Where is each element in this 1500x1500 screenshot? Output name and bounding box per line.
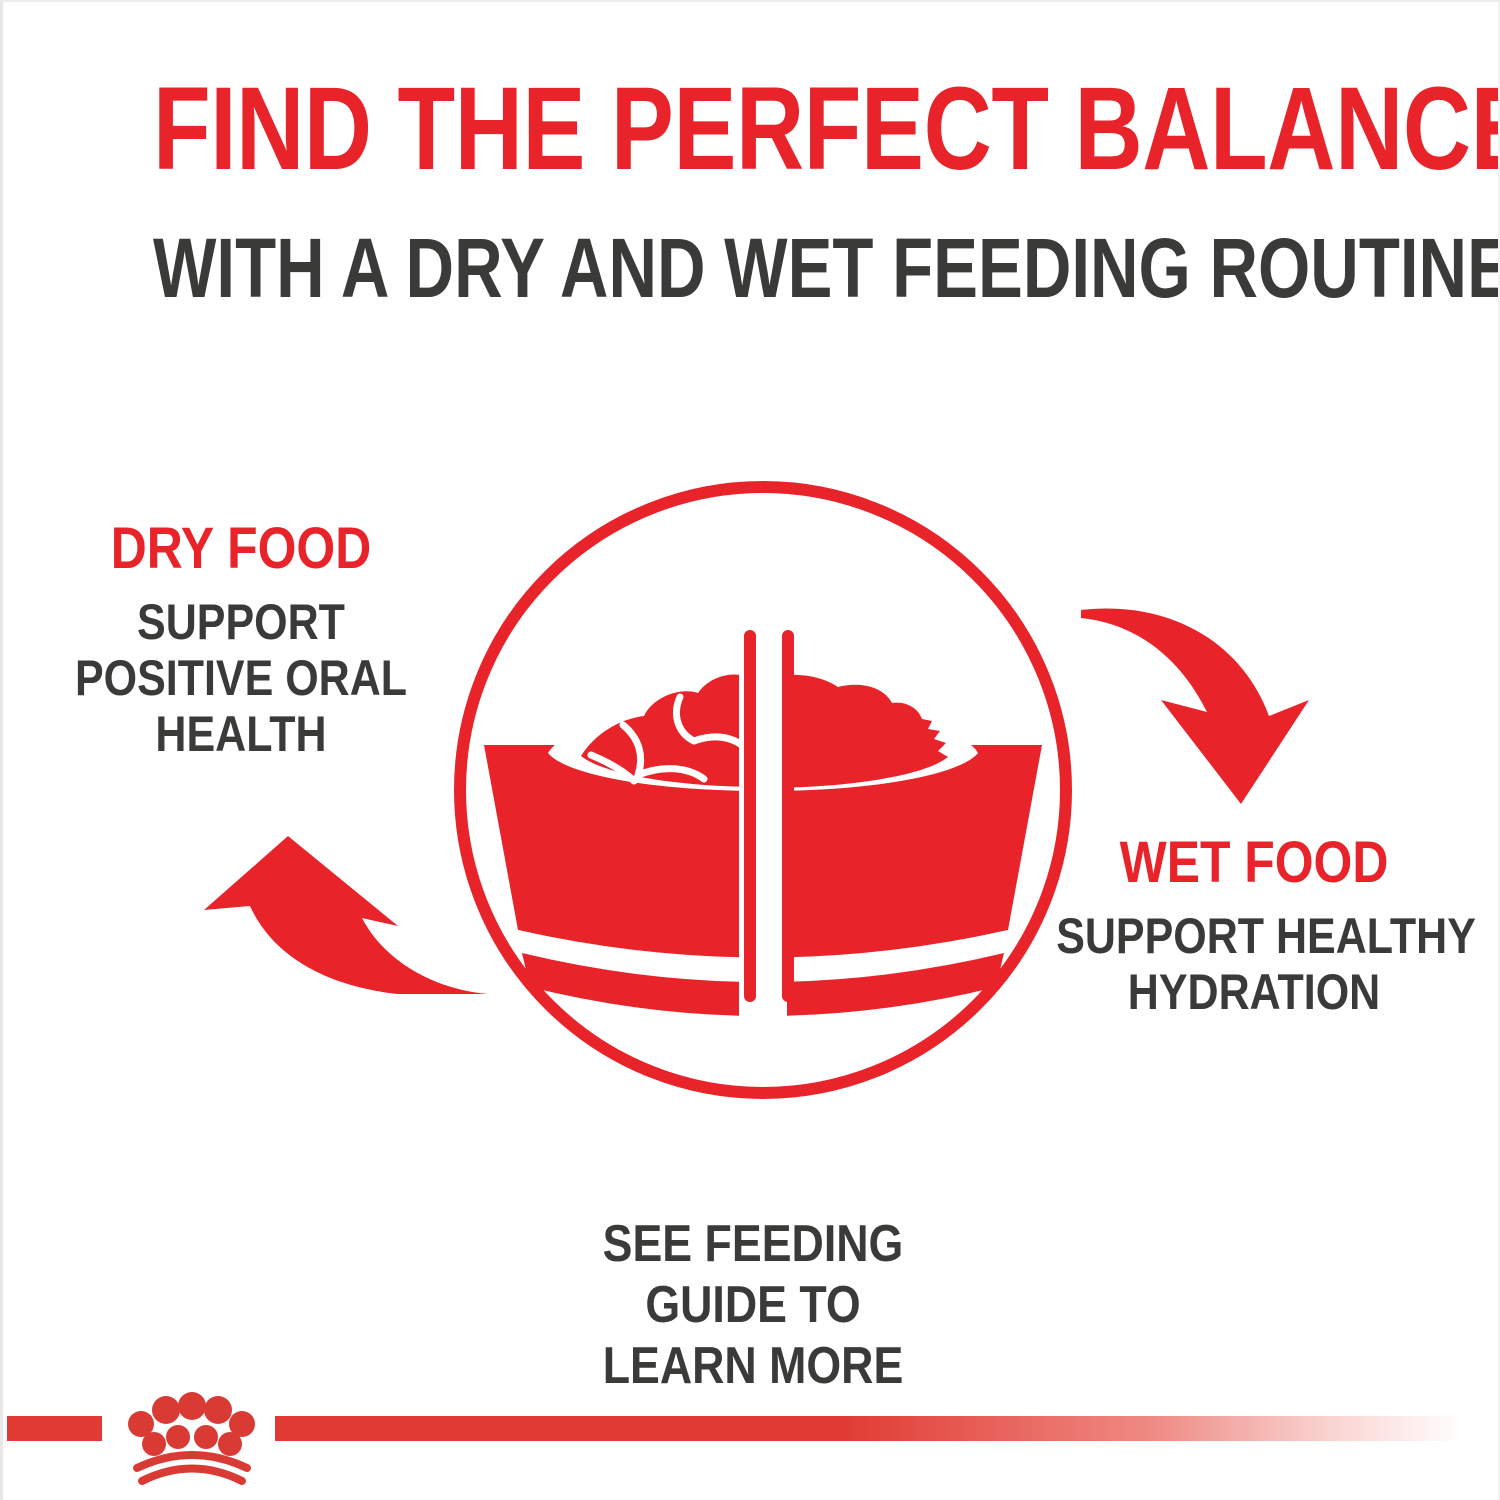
infographic-page: FIND THE PERFECT BALANCE WITH A DRY AND … [0,0,1500,1500]
page-subtitle: WITH A DRY AND WET FEEDING ROUTINE [153,226,1353,310]
split-bowl-circle-icon [448,475,1078,1105]
feeding-guide-caption: SEE FEEDING GUIDE TO LEARN MORE [3,1214,1500,1396]
wet-food-block: WET FOOD SUPPORT HEALTHY HYDRATION [1024,834,1484,1020]
heading-group: FIND THE PERFECT BALANCE WITH A DRY AND … [3,70,1500,310]
dry-food-line: HEALTH [60,706,421,762]
wet-food-line: HYDRATION [1056,964,1452,1020]
divider-line-right [782,630,794,1002]
curved-arrow-up-left-icon [188,814,508,994]
footer-bar-right [275,1416,1500,1441]
curved-arrow-down-right-icon [1081,588,1381,818]
dry-food-line: POSITIVE ORAL [60,650,421,706]
dry-food-block: DRY FOOD SUPPORT POSITIVE ORAL HEALTH [31,520,451,762]
caption-line: GUIDE TO [108,1275,1398,1336]
dry-food-description: SUPPORT POSITIVE ORAL HEALTH [31,594,451,762]
footer [3,1392,1500,1500]
divider-line-left [744,630,756,1002]
dry-food-heading: DRY FOOD [60,520,421,578]
royal-canin-crown-logo-icon [106,1392,271,1487]
page-title: FIND THE PERFECT BALANCE [153,70,1353,188]
wet-food-heading: WET FOOD [1056,834,1452,892]
wet-food-description: SUPPORT HEALTHY HYDRATION [1024,908,1484,1020]
dry-food-line: SUPPORT [60,594,421,650]
caption-line: SEE FEEDING [108,1214,1398,1275]
wet-food-line: SUPPORT HEALTHY [1056,908,1452,964]
caption-line: LEARN MORE [108,1336,1398,1397]
footer-bar-left [7,1416,102,1441]
